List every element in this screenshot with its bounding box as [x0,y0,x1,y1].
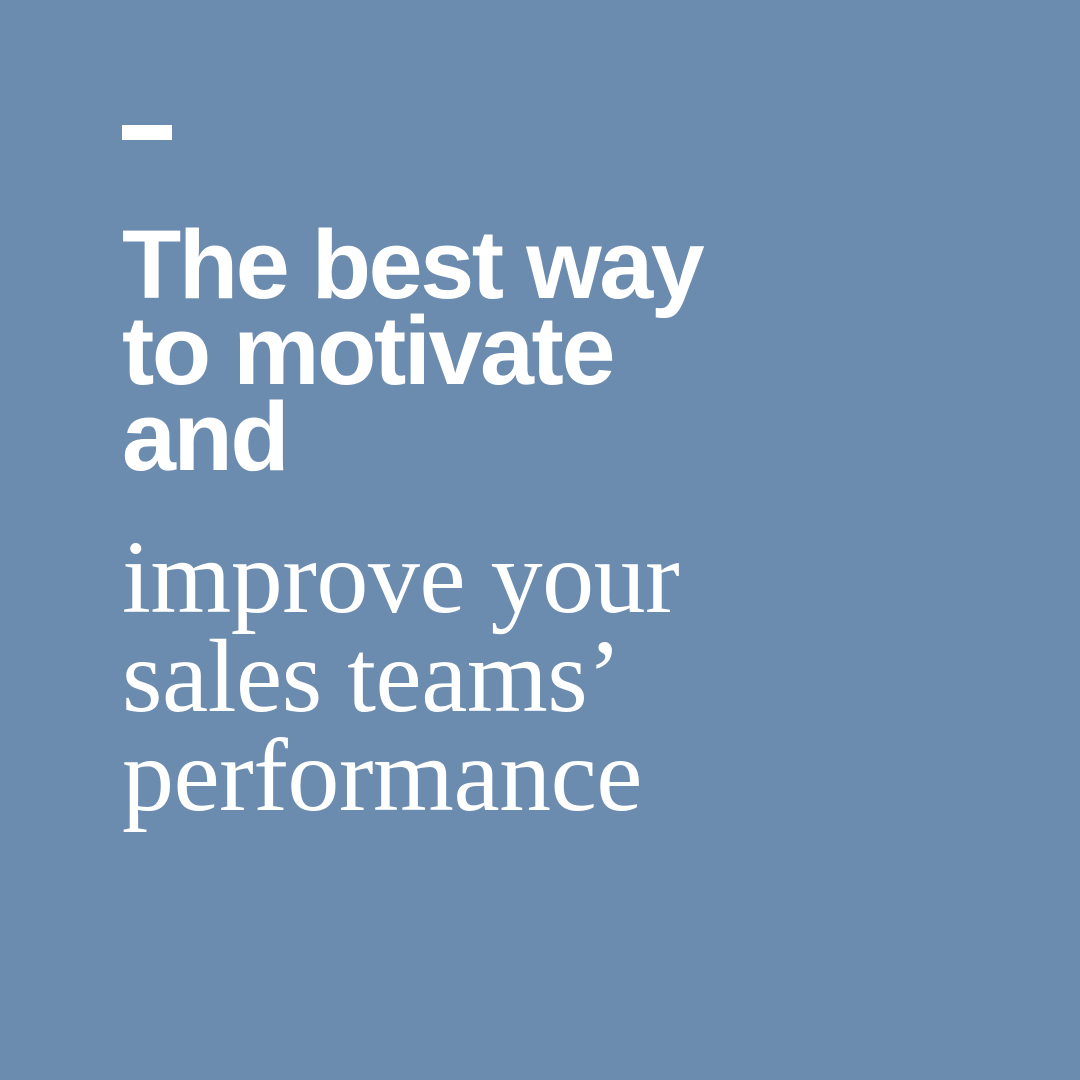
headline-line-3: and [122,394,982,480]
quote-card: The best way to motivate and improve you… [0,0,1080,1080]
subhead-line-3: performance [122,726,1022,825]
subhead-line-1: improve your [122,528,1022,627]
horizontal-dash-rule-icon [122,125,172,140]
subhead-line-2: sales teams’ [122,627,1022,726]
headline-block: The best way to motivate and [122,222,982,480]
subhead-block: improve your sales teams’ performance [122,528,1022,825]
